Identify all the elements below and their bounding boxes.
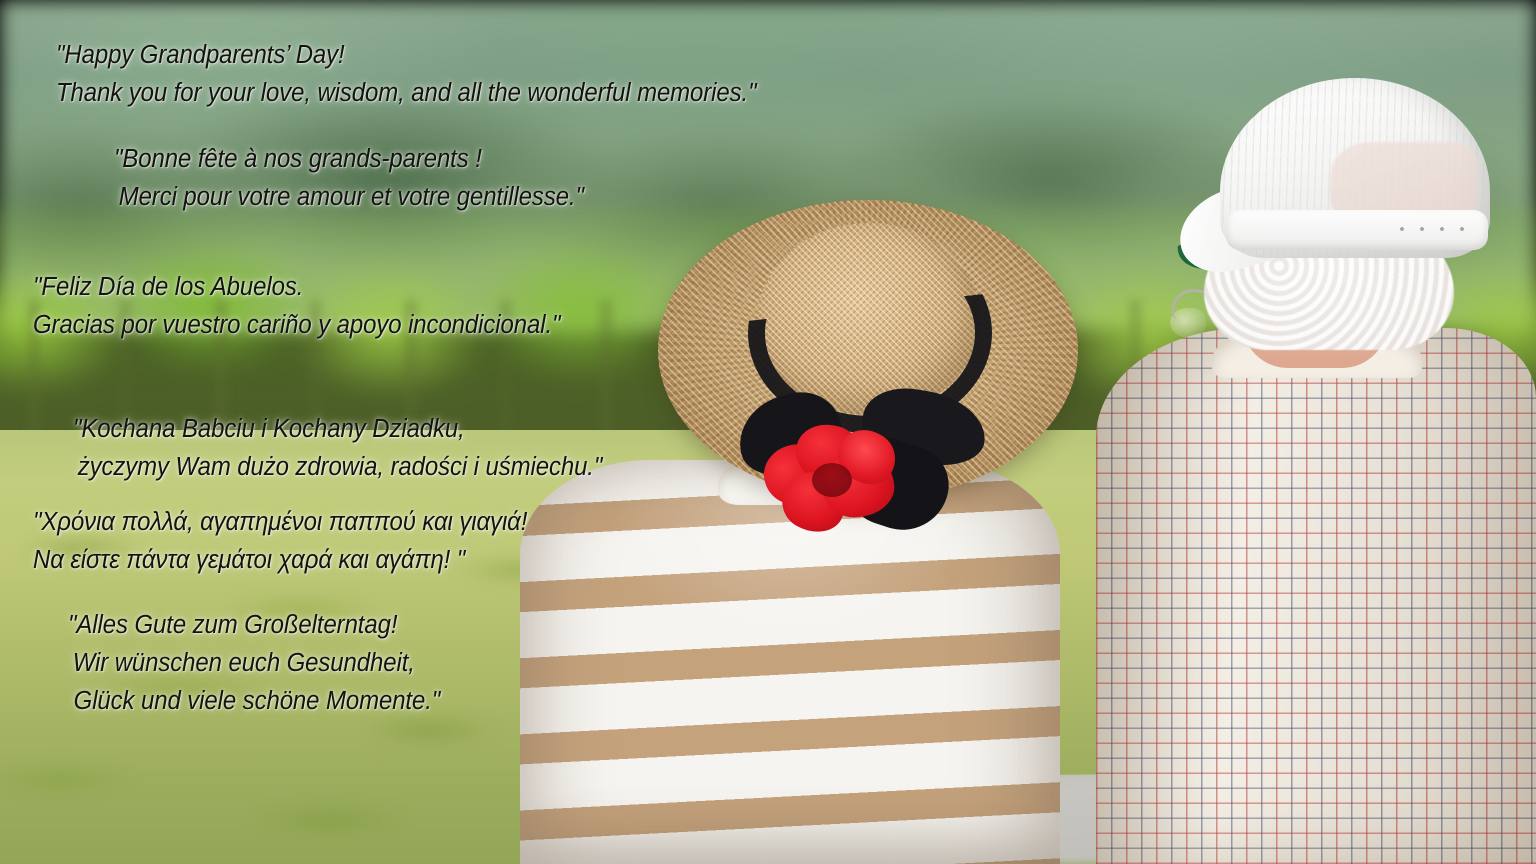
greeting-block-german: "Alles Gute zum Großelterntag! Wir wünsc…	[68, 606, 464, 720]
greeting-line: "Bonne fête à nos grands-parents !	[114, 140, 584, 178]
greeting-block-english: "Happy Grandparents’ Day! Thank you for …	[56, 36, 801, 112]
greeting-line: Να είστε πάντα γεμάτοι χαρά και αγάπη! "	[33, 541, 527, 579]
greeting-block-greek: "Χρόνια πολλά, αγαπημένοι παππού και για…	[33, 503, 559, 579]
greeting-line: "Feliz Día de los Abuelos.	[33, 268, 560, 306]
greeting-line: Glück und viele schöne Momente."	[68, 682, 440, 720]
greeting-line: Merci pour votre amour et votre gentille…	[114, 178, 584, 216]
greeting-block-spanish: "Feliz Día de los Abuelos. Gracias por v…	[33, 268, 594, 344]
greeting-line: "Alles Gute zum Großelterntag!	[68, 606, 440, 644]
greeting-line: Thank you for your love, wisdom, and all…	[56, 74, 757, 112]
greeting-line: życzymy Wam dużo zdrowia, radości i uśmi…	[73, 448, 602, 486]
greeting-line: "Χρόνια πολλά, αγαπημένοι παππού και για…	[33, 503, 527, 541]
greeting-line: Gracias por vuestro cariño y apoyo incon…	[33, 306, 560, 344]
greeting-block-polish: "Kochana Babciu i Kochany Dziadku, życzy…	[73, 410, 636, 486]
greeting-line: Wir wünschen euch Gesundheit,	[68, 644, 440, 682]
greetings-overlay: "Happy Grandparents’ Day! Thank you for …	[0, 0, 1536, 864]
greeting-line: "Happy Grandparents’ Day!	[56, 36, 757, 74]
greeting-block-french: "Bonne fête à nos grands-parents ! Merci…	[114, 140, 614, 216]
greeting-line: "Kochana Babciu i Kochany Dziadku,	[73, 410, 602, 448]
greeting-card-scene: "Happy Grandparents’ Day! Thank you for …	[0, 0, 1536, 864]
